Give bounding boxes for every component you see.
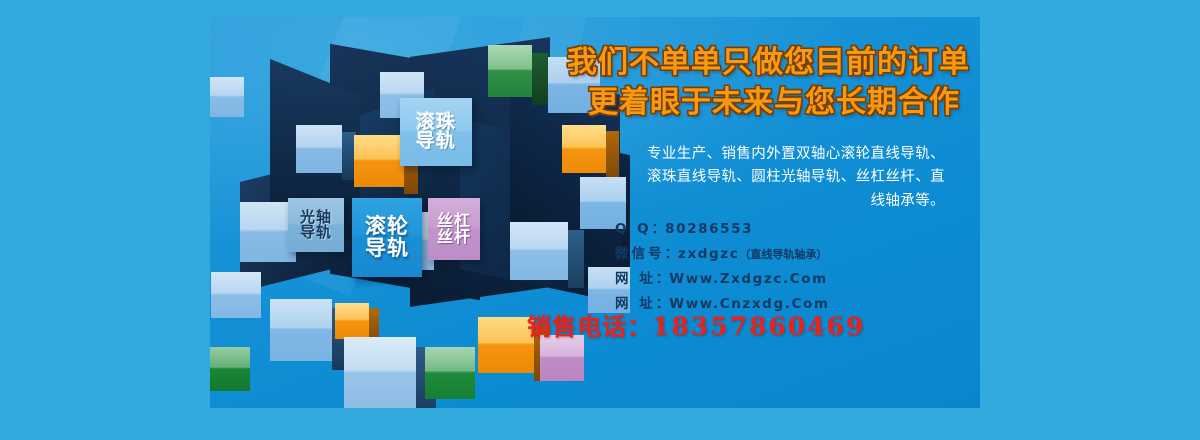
product-label-guangzhou-daogui[interactable]: 光轴 导轨	[288, 198, 344, 252]
product-label-line2: 导轨	[416, 132, 456, 151]
description-line-2: 滚珠直线导轨、圆柱光轴导轨、丝杠丝杆、直	[555, 166, 945, 189]
banner-stage: 滚珠 导轨 光轴 导轨 滚轮 导轨 丝杠 丝杆 我们不单单只做您目前的订单 更着…	[0, 0, 1200, 440]
headline-line-2: 更着眼于未来与您长期合作	[588, 83, 960, 123]
product-label-gunzhu-daogui[interactable]: 滚珠 导轨	[400, 98, 472, 166]
cube-3d	[210, 77, 244, 117]
contact-note: （直线导轨轴承）	[739, 248, 827, 261]
description-line-3: 线轴承等。	[555, 190, 945, 213]
product-label-line2: 丝杆	[437, 229, 471, 245]
cube-3d	[335, 303, 369, 339]
product-label-line2: 导轨	[365, 238, 409, 259]
product-label-line1: 滚轮	[365, 216, 409, 237]
description-text: 专业生产、销售内外置双轴心滚轮直线导轨、 滚珠直线导轨、圆柱光轴导轨、丝杠丝杆、…	[555, 143, 945, 213]
contact-sep: ：	[665, 246, 679, 262]
cube-3d	[425, 347, 475, 399]
product-label-gunlun-daogui[interactable]: 滚轮 导轨	[352, 198, 422, 277]
product-label-line2: 导轨	[300, 225, 332, 240]
contact-info-block: Q Q：80286553 微信号：zxdgzc（直线导轨轴承） 网 址：Www.…	[615, 217, 830, 317]
contact-row-qq: Q Q：80286553	[615, 217, 830, 242]
contact-sep: ：	[656, 271, 670, 287]
contact-row-wechat: 微信号：zxdgzc（直线导轨轴承）	[615, 242, 830, 267]
banner-panel: 滚珠 导轨 光轴 导轨 滚轮 导轨 丝杠 丝杆 我们不单单只做您目前的订单 更着…	[210, 17, 980, 408]
cube-3d	[211, 272, 261, 318]
contact-key: Q Q	[615, 217, 652, 242]
sales-phone-number[interactable]: 18357860469	[652, 312, 865, 341]
contact-key: 网 址	[615, 267, 656, 292]
cube-3d	[354, 135, 404, 187]
cube-3d	[344, 337, 416, 408]
cube-3d	[478, 317, 534, 373]
cube-3d	[210, 347, 250, 391]
cube-3d	[270, 299, 332, 361]
cube-3d	[488, 45, 532, 97]
banner-copy-column: 我们不单单只做您目前的订单 更着眼于未来与您长期合作 专业生产、销售内外置双轴心…	[555, 17, 980, 408]
sales-phone-block[interactable]: 销售电话：18357860469	[527, 307, 865, 342]
description-line-1: 专业生产、销售内外置双轴心滚轮直线导轨、	[555, 143, 945, 166]
product-label-sigang-sigan[interactable]: 丝杠 丝杆	[428, 198, 480, 260]
contact-value[interactable]: Www.Zxdgzc.Com	[669, 271, 828, 287]
headline-line-1: 我们不单单只做您目前的订单	[567, 43, 970, 83]
contact-value[interactable]: 80286553	[665, 221, 753, 237]
contact-key: 微信号	[615, 242, 665, 267]
contact-value[interactable]: zxdgzc	[678, 246, 739, 262]
cube-3d	[296, 125, 342, 173]
sales-phone-label: 销售电话：	[527, 312, 652, 341]
contact-row-website-1: 网 址：Www.Zxdgzc.Com	[615, 267, 830, 292]
contact-sep: ：	[652, 221, 666, 237]
